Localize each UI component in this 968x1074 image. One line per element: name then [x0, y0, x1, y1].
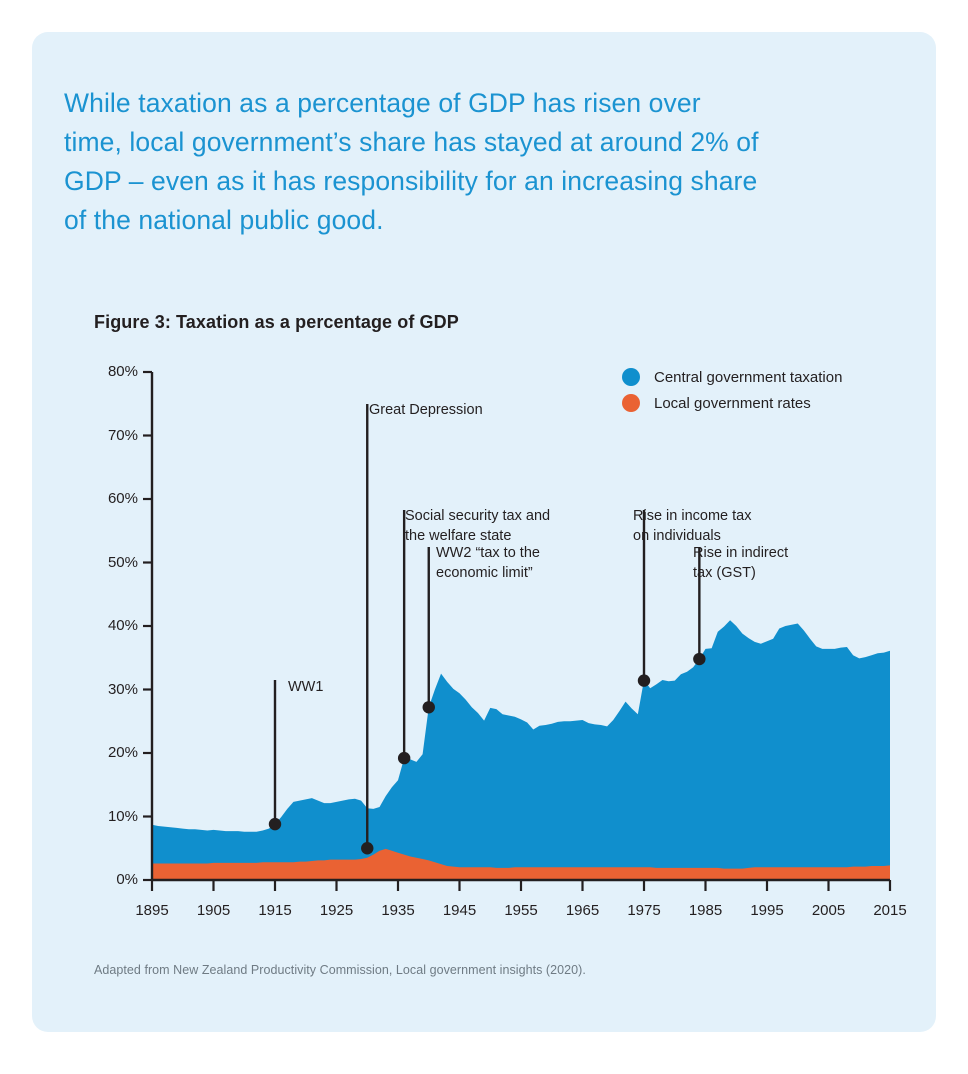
- annotation-label-social-security: Social security tax and the welfare stat…: [405, 506, 550, 546]
- area-central-government-taxation: [152, 620, 890, 880]
- x-axis-tick-label: 1905: [184, 902, 244, 919]
- legend-label-central: Central government taxation: [654, 369, 842, 386]
- legend-swatch-central-icon: [622, 368, 640, 386]
- annotation-marker-social-security: [398, 752, 410, 764]
- x-axis-tick-label: 1985: [676, 902, 736, 919]
- x-axis-tick-label: 1945: [430, 902, 490, 919]
- y-axis-tick-label: 60%: [82, 490, 138, 507]
- x-axis-tick-label: 1965: [553, 902, 613, 919]
- legend-item-central: Central government taxation: [622, 364, 922, 390]
- x-axis-tick-label: 2005: [799, 902, 859, 919]
- annotation-label-indirect-tax-rise: Rise in indirect tax (GST): [693, 543, 788, 583]
- annotation-marker-income-tax-rise: [638, 674, 650, 686]
- annotation-label-income-tax-rise: Rise in income tax on individuals: [633, 506, 751, 546]
- annotation-marker-ww2: [423, 701, 435, 713]
- legend-item-local: Local government rates: [622, 390, 922, 416]
- chart-legend: Central government taxation Local govern…: [622, 364, 922, 416]
- annotation-marker-indirect-tax-rise: [693, 653, 705, 665]
- infographic-card: While taxation as a percentage of GDP ha…: [32, 32, 936, 1032]
- annotation-label-ww2: WW2 “tax to the economic limit”: [436, 543, 540, 583]
- x-axis-tick-label: 1975: [614, 902, 674, 919]
- x-axis-tick-label: 1915: [245, 902, 305, 919]
- source-caption: Adapted from New Zealand Productivity Co…: [94, 963, 586, 977]
- y-axis-tick-label: 80%: [82, 363, 138, 380]
- y-axis-tick-label: 20%: [82, 744, 138, 761]
- y-axis-tick-label: 40%: [82, 617, 138, 634]
- x-axis-tick-label: 1895: [122, 902, 182, 919]
- y-axis-tick-label: 70%: [82, 427, 138, 444]
- x-axis-tick-label: 2015: [860, 902, 920, 919]
- annotation-marker-great-depression: [361, 842, 373, 854]
- x-axis-tick-label: 1925: [307, 902, 367, 919]
- x-axis-tick-label: 1995: [737, 902, 797, 919]
- x-axis-tick-label: 1955: [491, 902, 551, 919]
- legend-label-local: Local government rates: [654, 395, 811, 412]
- y-axis-tick-label: 50%: [82, 554, 138, 571]
- y-axis-tick-label: 30%: [82, 681, 138, 698]
- y-axis-tick-label: 0%: [82, 871, 138, 888]
- annotation-label-great-depression: Great Depression: [369, 400, 483, 420]
- legend-swatch-local-icon: [622, 394, 640, 412]
- y-axis-tick-label: 10%: [82, 808, 138, 825]
- annotation-label-ww1: WW1: [288, 677, 323, 697]
- annotation-marker-ww1: [269, 818, 281, 830]
- x-axis-tick-label: 1935: [368, 902, 428, 919]
